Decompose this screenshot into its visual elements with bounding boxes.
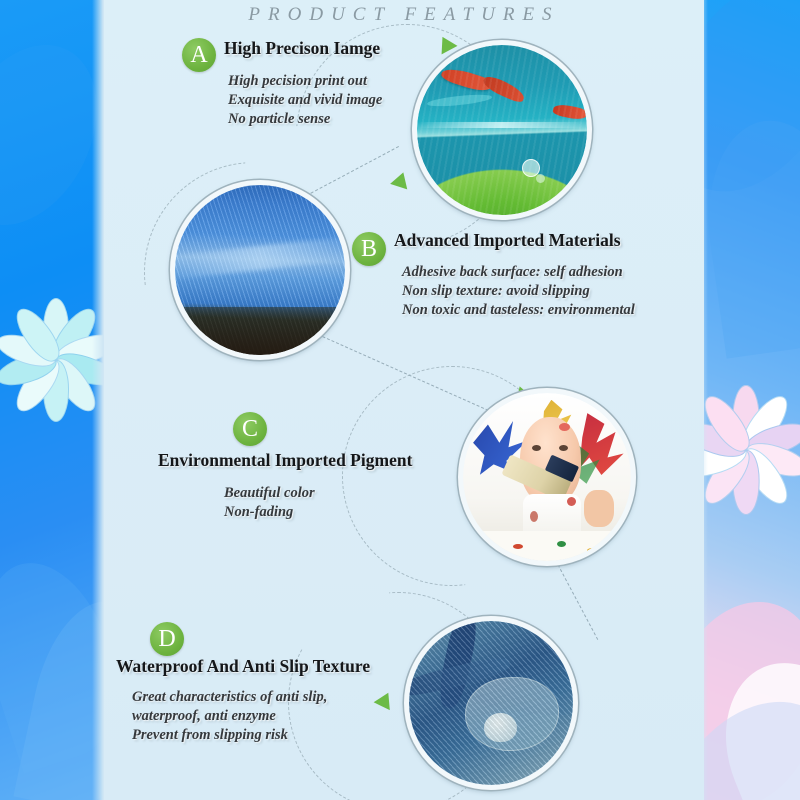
badge-a: A	[182, 38, 216, 72]
feature-line: Exquisite and vivid image	[228, 91, 382, 110]
feature-heading-b: Advanced Imported Materials	[394, 230, 621, 251]
badge-d: D	[150, 622, 184, 656]
feature-heading-a: High Precison Iamge	[224, 38, 380, 59]
petal-shape	[0, 21, 104, 249]
koi-fish-pond-lily-pad-photo	[417, 45, 587, 215]
feature-line: Beautiful color	[224, 484, 315, 503]
feature-line: waterproof, anti enzyme	[132, 707, 327, 726]
feature-line: No particle sense	[228, 110, 382, 129]
feature-heading-c: Environmental Imported Pigment	[158, 450, 412, 471]
photo-circle-b	[170, 180, 350, 360]
feature-lines-d: Great characteristics of anti slip, wate…	[132, 688, 327, 745]
blue-ribbed-vinyl-material-photo	[175, 185, 345, 355]
content-panel: PRODUCT FEATURES A High Precison Iamge H…	[104, 0, 704, 800]
product-features-infographic: PRODUCT FEATURES A High Precison Iamge H…	[0, 0, 800, 800]
feature-line: Non slip texture: avoid slipping	[402, 282, 635, 301]
feature-line: Great characteristics of anti slip,	[132, 688, 327, 707]
feature-line: High pecision print out	[228, 72, 382, 91]
badge-c: C	[233, 412, 267, 446]
photo-circle-c	[458, 388, 636, 566]
right-decoration-strip	[700, 0, 800, 800]
water-droplet-anti-slip-texture-photo	[409, 621, 573, 785]
feature-lines-b: Adhesive back surface: self adhesion Non…	[402, 263, 635, 320]
arrow-b	[390, 170, 412, 190]
page-title: PRODUCT FEATURES	[104, 4, 704, 26]
feature-lines-c: Beautiful color Non-fading	[224, 484, 315, 522]
photo-circle-a	[412, 40, 592, 220]
baby-with-paintbrush-photo	[463, 393, 631, 561]
feature-line: Non toxic and tasteless: environmental	[402, 301, 635, 320]
feature-line: Prevent from slipping risk	[132, 726, 327, 745]
left-decoration-strip	[0, 0, 104, 800]
photo-circle-d	[404, 616, 578, 790]
feature-line: Non-fading	[224, 503, 315, 522]
feature-line: Adhesive back surface: self adhesion	[402, 263, 635, 282]
feature-heading-d: Waterproof And Anti Slip Texture	[116, 656, 370, 677]
badge-b: B	[352, 232, 386, 266]
feature-lines-a: High pecision print out Exquisite and vi…	[228, 72, 382, 129]
